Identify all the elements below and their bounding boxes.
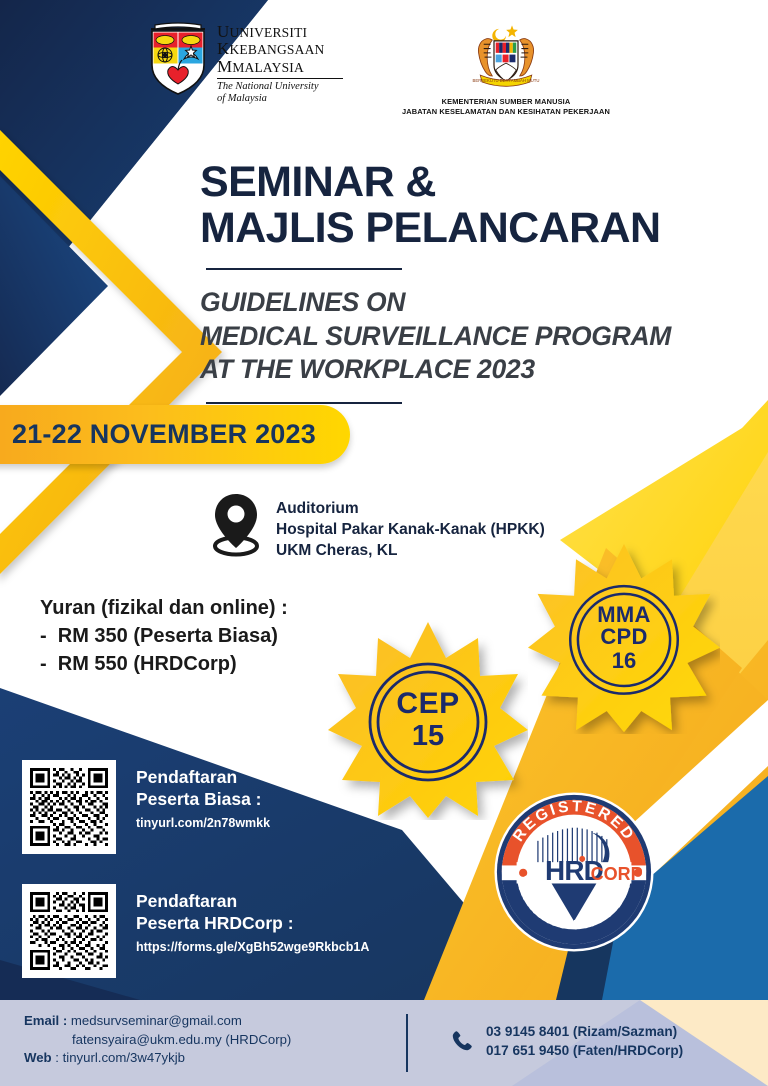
registration-1-heading-2: Peserta Biasa : (136, 788, 270, 810)
title-main-line1: SEMINAR & (200, 160, 760, 206)
registration-2-url[interactable]: https://forms.gle/XgBh52wge9Rkbcb1A (136, 940, 369, 954)
title-sub-line2: MEDICAL SURVEILLANCE PROGRAM (200, 320, 760, 353)
venue-line2: Hospital Pakar Kanak-Kanak (HPKK) (276, 519, 545, 540)
fees-item-2: - RM 550 (HRDCorp) (40, 650, 288, 678)
ukm-line3: MALAYSIA (232, 60, 304, 75)
venue-line1: Auditorium (276, 498, 545, 519)
fees-heading: Yuran (fizikal dan online) : (40, 594, 288, 622)
footer-divider (406, 1014, 408, 1072)
title-sub-line1: GUIDELINES ON (200, 286, 760, 319)
footer-email-label: Email : (24, 1013, 67, 1028)
registration-peserta-hrdcorp[interactable]: Pendaftaran Peserta HRDCorp : https://fo… (22, 884, 369, 978)
jata-negara-emblem-icon: BERSEKUTU BERTAMBAH MUTU (463, 22, 549, 94)
ukm-line2: KEBANGSAAN (229, 42, 324, 57)
ministry-line1: KEMENTERIAN SUMBER MANUSIA (442, 97, 571, 106)
phone-icon (450, 1029, 474, 1053)
hrd-corp-registered-training-provider-seal: HRD CORP REGISTERED TRAINING PROVIDER (492, 790, 656, 954)
ukm-tagline-2: of Malaysia (217, 93, 343, 105)
title-block: SEMINAR & MAJLIS PELANCARAN GUIDELINES O… (200, 160, 760, 404)
qr-code-peserta-hrdcorp[interactable] (22, 884, 116, 978)
svg-text:BERSEKUTU BERTAMBAH MUTU: BERSEKUTU BERTAMBAH MUTU (473, 78, 540, 83)
registration-2-heading-2: Peserta HRDCorp : (136, 912, 369, 934)
poster-canvas: MMA CPD 16 CEP 15 (0, 0, 768, 1086)
title-divider-top (206, 268, 402, 270)
registration-peserta-biasa[interactable]: Pendaftaran Peserta Biasa : tinyurl.com/… (22, 760, 270, 854)
ukm-shield-icon (147, 22, 209, 96)
footer-phone-2: 017 651 9450 (Faten/HRDCorp) (486, 1041, 683, 1060)
qr-code-peserta-biasa[interactable] (22, 760, 116, 854)
footer-contact-bar: Email : medsurvseminar@gmail.com fatensy… (0, 1000, 768, 1086)
location-pin-icon (210, 492, 262, 558)
ukm-logo: UUNIVERSITI KKEBANGSAAN MMALAYSIA The Na… (147, 22, 343, 105)
ministry-line2: JABATAN KESELAMATAN DAN KESIHATAN PEKERJ… (402, 107, 610, 116)
registration-2-heading-1: Pendaftaran (136, 890, 369, 912)
title-divider-bottom (206, 402, 402, 404)
title-main-line2: MAJLIS PELANCARAN (200, 206, 760, 252)
registration-1-url[interactable]: tinyurl.com/2n78wmkk (136, 816, 270, 830)
footer-email-1[interactable]: medsurvseminar@gmail.com (71, 1013, 242, 1028)
ukm-divider (217, 78, 343, 79)
fees-block: Yuran (fizikal dan online) : - RM 350 (P… (40, 594, 288, 678)
registration-1-heading-1: Pendaftaran (136, 766, 270, 788)
mma-cpd-badge (528, 542, 720, 734)
title-sub-line3: AT THE WORKPLACE 2023 (200, 353, 760, 386)
ministry-logo: BERSEKUTU BERTAMBAH MUTU KEMENTERIAN SUM… (391, 22, 621, 116)
footer-phone-1: 03 9145 8401 (Rizam/Sazman) (486, 1022, 683, 1041)
ukm-tagline-1: The National University (217, 81, 343, 93)
footer-web-label: Web (24, 1050, 52, 1065)
footer-web-value[interactable]: : tinyurl.com/3w47ykjb (55, 1050, 185, 1065)
event-date-pill: 21-22 NOVEMBER 2023 (0, 405, 350, 464)
footer-phone-block: 03 9145 8401 (Rizam/Sazman) 017 651 9450… (450, 1022, 683, 1061)
fees-item-1: - RM 350 (Peserta Biasa) (40, 622, 288, 650)
footer-email-block: Email : medsurvseminar@gmail.com fatensy… (24, 1012, 291, 1068)
header-logos: UUNIVERSITI KKEBANGSAAN MMALAYSIA The Na… (0, 22, 768, 137)
venue-block: Auditorium Hospital Pakar Kanak-Kanak (H… (210, 492, 545, 561)
venue-line3: UKM Cheras, KL (276, 540, 545, 561)
event-date-text: 21-22 NOVEMBER 2023 (12, 419, 316, 450)
footer-email-2[interactable]: fatensyaira@ukm.edu.my (HRDCorp) (72, 1032, 291, 1047)
ukm-line1: UNIVERSITI (229, 25, 307, 40)
